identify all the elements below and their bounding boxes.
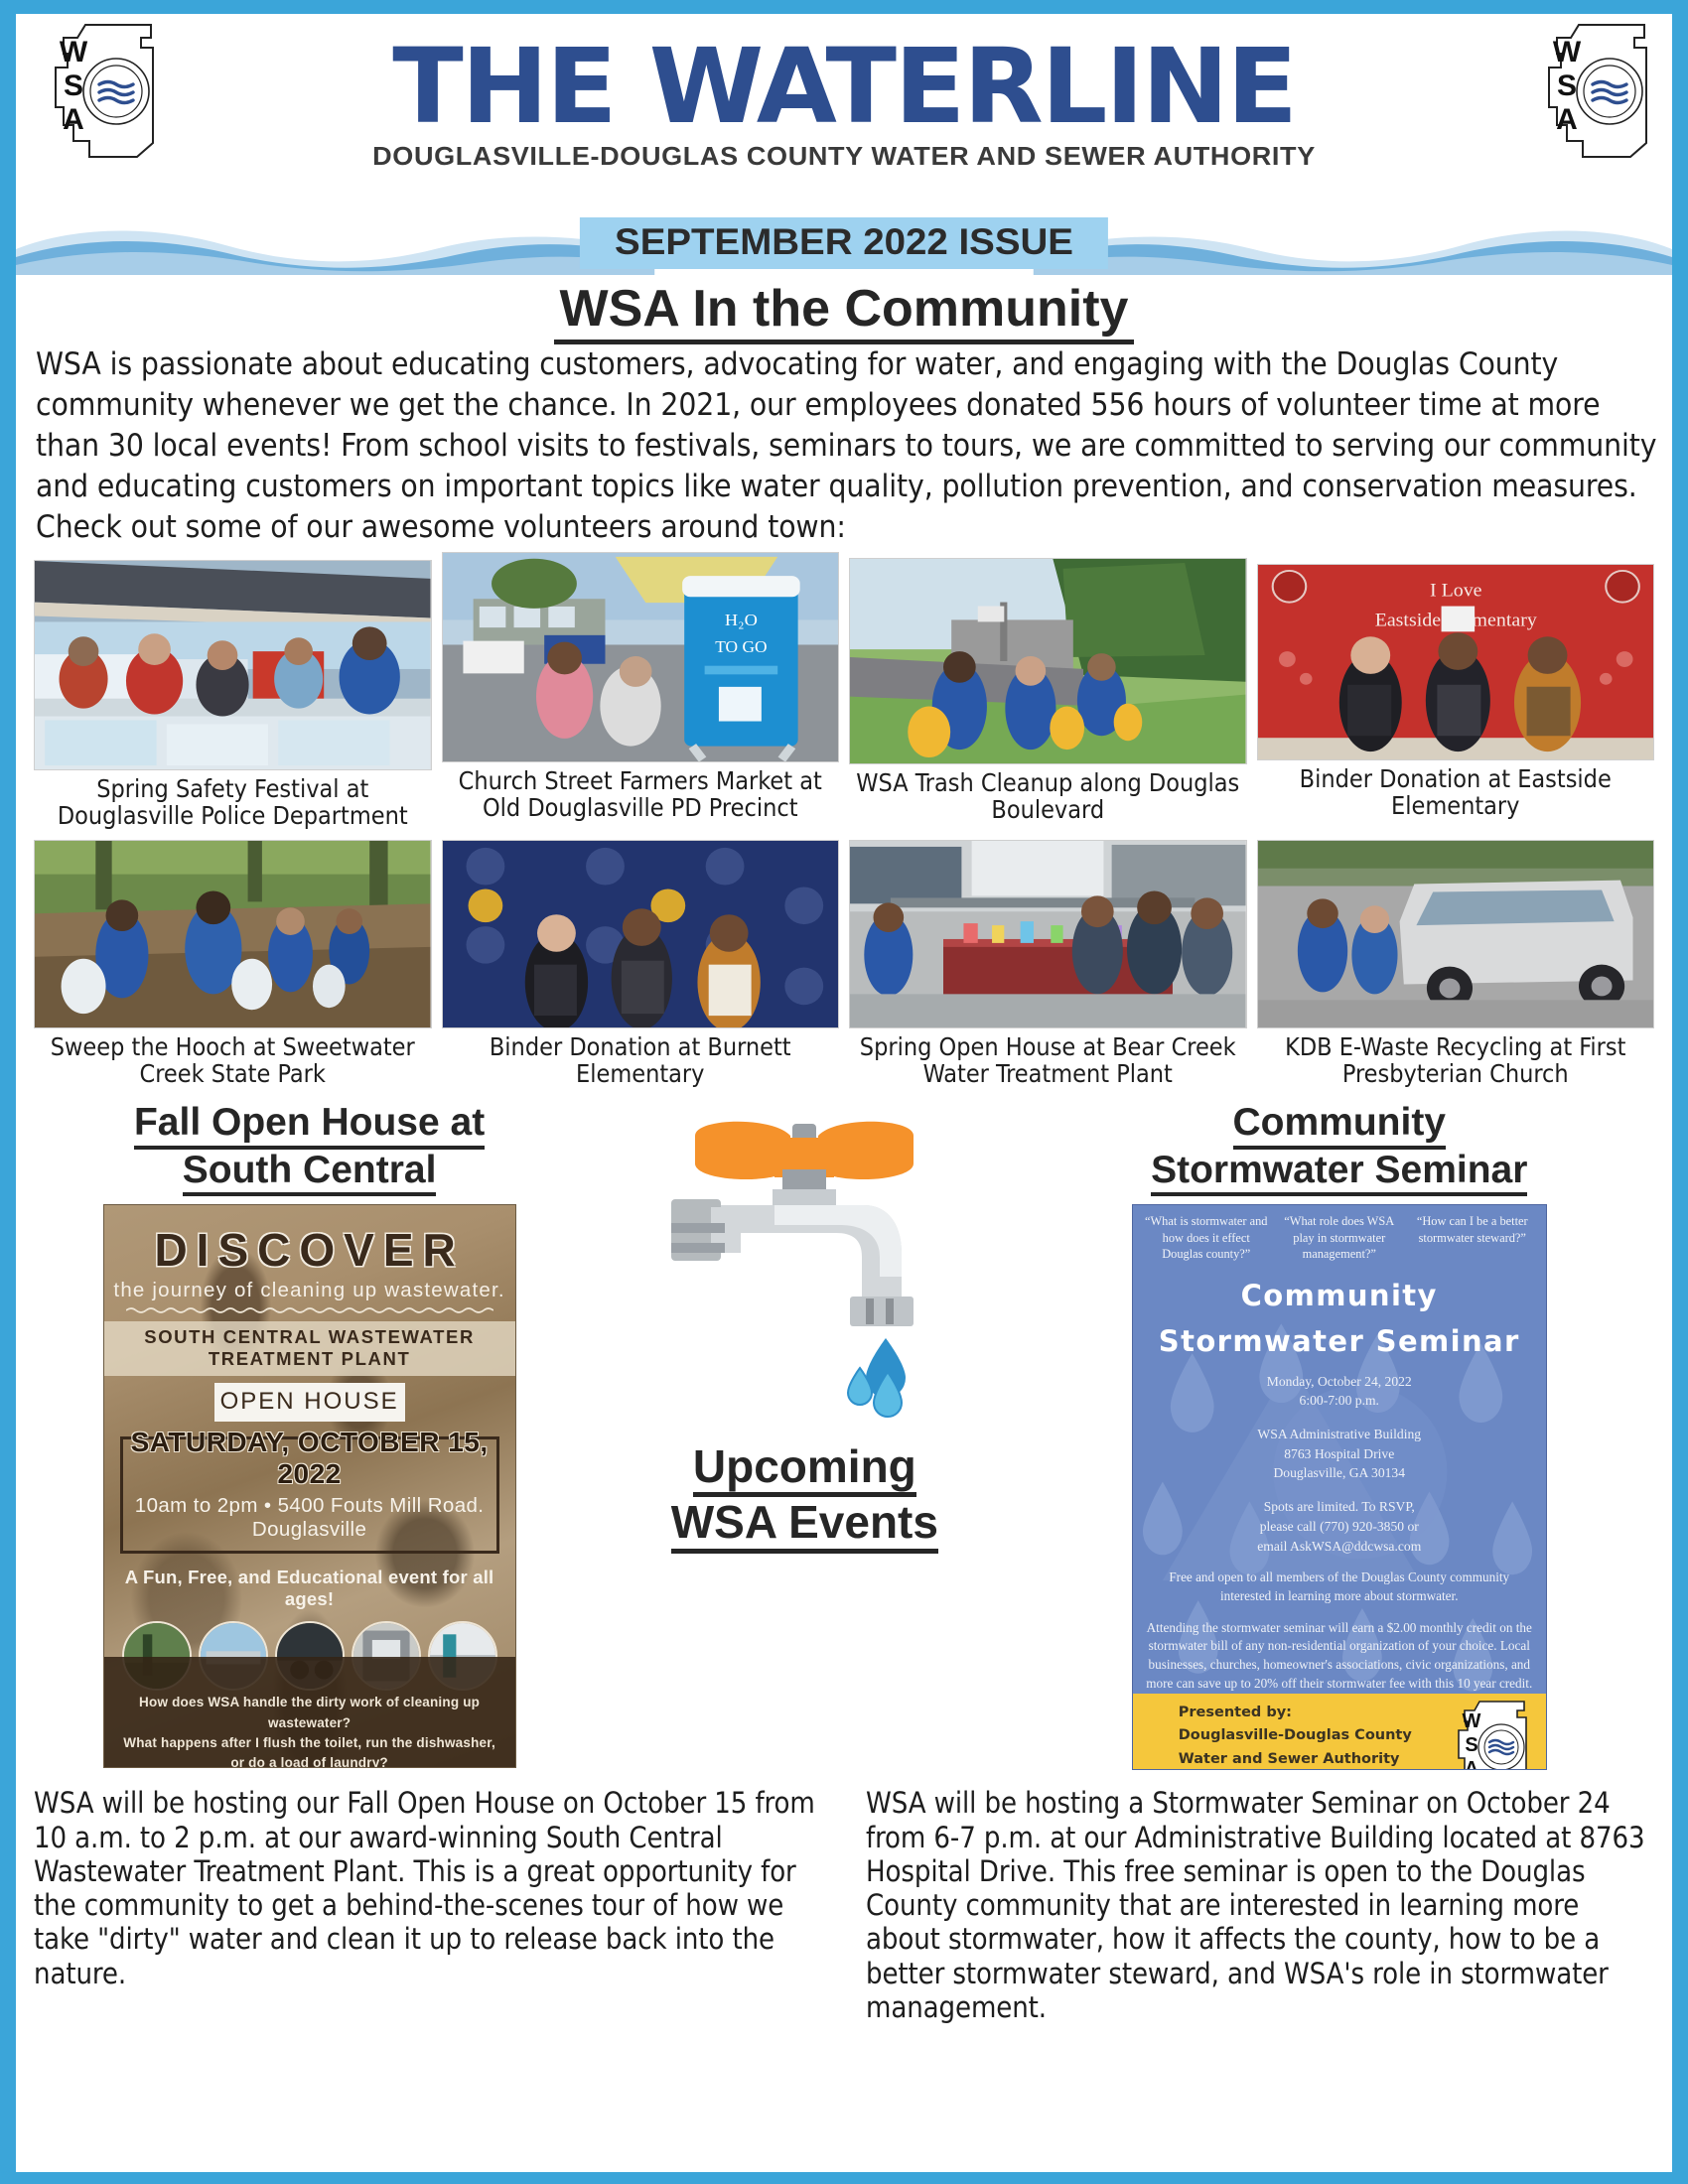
poster-tagline: the journey of cleaning up wastewater. (104, 1279, 515, 1302)
stormwater-venue-line3: Douglasville, GA 30134 (1145, 1463, 1534, 1483)
photo-spring-safety-festival (34, 560, 432, 770)
photo-caption: KDB E-Waste Recycling at First Presbyter… (1257, 1033, 1655, 1088)
stormwater-venue-line2: 8763 Hospital Drive (1145, 1444, 1534, 1464)
fall-open-house-description: WSA will be hosting our Fall Open House … (34, 1786, 822, 2024)
stormwater-question-2: “What role does WSA play in stormwater m… (1276, 1213, 1403, 1262)
stormwater-heading-line2: Stormwater Seminar (1151, 1150, 1527, 1197)
photo-caption: Spring Safety Festival at Douglasville P… (34, 775, 432, 830)
squiggle-divider-icon (126, 1305, 493, 1314)
svg-text:A: A (1465, 1758, 1478, 1771)
photo-cell: H₂O TO GO Church Street Farmers Market a… (442, 560, 840, 822)
poster-question-2: What happens after I flush the toilet, r… (118, 1733, 501, 1769)
community-heading: WSA In the Community (554, 280, 1135, 344)
stormwater-rsvp: Spots are limited. To RSVP, please call … (1133, 1497, 1546, 1556)
photo-caption: Sweep the Hooch at Sweetwater Creek Stat… (34, 1033, 432, 1088)
photo-church-street-farmers-market: H₂O TO GO (442, 552, 840, 762)
poster-time-place: 10am to 2pm • 5400 Fouts Mill Road. Doug… (127, 1494, 492, 1542)
svg-text:H₂O: H₂O (724, 610, 757, 628)
fall-open-house-column: Fall Open House at South Central DISCOVE… (34, 1102, 585, 1769)
photo-kdb-ewaste-recycling (1257, 840, 1655, 1028)
stormwater-venue-line1: WSA Administrative Building (1145, 1425, 1534, 1444)
stormwater-seminar-description: WSA will be hosting a Stormwater Seminar… (866, 1786, 1654, 2024)
discover-poster: DISCOVER the journey of cleaning up wast… (103, 1204, 516, 1768)
stormwater-date: Monday, October 24, 2022 (1145, 1372, 1534, 1392)
newsletter-sheet: W S A W S A THE WAT (16, 14, 1672, 2172)
svg-text:TO GO: TO GO (715, 637, 767, 655)
stormwater-questions-row: “What is stormwater and how does it effe… (1133, 1205, 1546, 1262)
stormwater-rsvp-line3: email AskWSA@ddcwsa.com (1145, 1537, 1534, 1557)
fall-open-house-heading-line1: Fall Open House at (134, 1102, 485, 1150)
svg-text:W: W (1462, 1710, 1480, 1732)
upcoming-heading-line2: WSA Events (671, 1497, 938, 1554)
upcoming-events-section: Fall Open House at South Central DISCOVE… (16, 1102, 1672, 1771)
stormwater-question-3: “How can I be a better stormwater stewar… (1409, 1213, 1536, 1262)
upcoming-heading-line1: Upcoming (693, 1441, 916, 1498)
photo-spring-open-house-bear-creek (849, 840, 1247, 1028)
issue-badge: SEPTEMBER 2022 ISSUE (580, 217, 1108, 269)
newsletter-title: THE WATERLINE (16, 18, 1672, 139)
upcoming-events-column: Upcoming WSA Events (593, 1102, 1016, 1554)
faucet-illustration (655, 1108, 953, 1426)
photo-cell: KDB E-Waste Recycling at First Presbyter… (1257, 840, 1655, 1088)
photo-cell: Spring Safety Festival at Douglasville P… (34, 560, 432, 830)
poster-open-house-label: OPEN HOUSE (214, 1383, 405, 1422)
photo-cell: Binder Donation at Burnett Elementary (442, 840, 840, 1088)
photo-caption: WSA Trash Cleanup along Douglas Boulevar… (849, 769, 1247, 824)
stormwater-datetime: Monday, October 24, 2022 6:00-7:00 p.m. (1133, 1372, 1546, 1411)
issue-label: SEPTEMBER 2022 ISSUE (615, 221, 1073, 263)
poster-date: SATURDAY, OCTOBER 15, 2022 (127, 1427, 492, 1490)
svg-text:S: S (1465, 1734, 1477, 1756)
page-title: WSA In the Community (16, 279, 1672, 339)
newsletter-page: W S A W S A THE WAT (0, 0, 1688, 2184)
stormwater-poster-footer: Presented by: Douglasville-Douglas Count… (1133, 1694, 1546, 1771)
poster-discover-title: DISCOVER (104, 1223, 515, 1277)
poster-questions-band: How does WSA handle the dirty work of cl… (104, 1657, 515, 1768)
photo-caption: Binder Donation at Burnett Elementary (442, 1033, 840, 1088)
fall-open-house-heading-line2: South Central (183, 1150, 437, 1197)
poster-date-box: SATURDAY, OCTOBER 15, 2022 10am to 2pm •… (120, 1436, 499, 1554)
photo-cell: Sweep the Hooch at Sweetwater Creek Stat… (34, 840, 432, 1088)
authority-subtitle: DOUGLASVILLE-DOUGLAS COUNTY WATER AND SE… (16, 143, 1672, 172)
photo-row-2: Sweep the Hooch at Sweetwater Creek Stat… (16, 840, 1672, 1088)
stormwater-heading-line1: Community (1233, 1102, 1447, 1150)
stormwater-rsvp-line1: Spots are limited. To RSVP, (1145, 1497, 1534, 1517)
bottom-descriptions: WSA will be hosting our Fall Open House … (16, 1778, 1672, 2024)
faucet-icon (655, 1108, 953, 1426)
photo-caption: Spring Open House at Bear Creek Water Tr… (849, 1033, 1247, 1088)
photo-sweep-the-hooch (34, 840, 432, 1028)
photo-binder-donation-burnett (442, 840, 840, 1028)
stormwater-venue: WSA Administrative Building 8763 Hospita… (1133, 1425, 1546, 1483)
stormwater-poster-title-line2: Stormwater Seminar (1133, 1324, 1546, 1358)
photo-wsa-trash-cleanup (849, 558, 1247, 764)
photo-cell: Spring Open House at Bear Creek Water Tr… (849, 840, 1247, 1088)
stormwater-seminar-heading: Community Stormwater Seminar (1151, 1102, 1527, 1197)
poster-plant-band: SOUTH CENTRAL WASTEWATER TREATMENT PLANT (104, 1321, 515, 1376)
stormwater-poster: “What is stormwater and how does it effe… (1132, 1204, 1547, 1770)
masthead: W S A W S A THE WAT (16, 14, 1672, 217)
photo-row-1: Spring Safety Festival at Douglasville P… (16, 560, 1672, 830)
stormwater-seminar-column: Community Stormwater Seminar (1025, 1102, 1655, 1771)
community-intro-paragraph: WSA is passionate about educating custom… (16, 344, 1672, 548)
stormwater-poster-title-line1: Community (1133, 1279, 1546, 1312)
upcoming-events-heading: Upcoming WSA Events (671, 1441, 938, 1554)
fall-open-house-heading: Fall Open House at South Central (134, 1102, 485, 1197)
photo-cell: I Love Eastside Elementary (1257, 560, 1655, 820)
stormwater-rsvp-line2: please call (770) 920-3850 or (1145, 1517, 1534, 1537)
stormwater-credit-note: Attending the stormwater seminar will ea… (1133, 1619, 1546, 1694)
photo-caption: Church Street Farmers Market at Old Doug… (442, 767, 840, 822)
wsa-logo-stormwater-icon: W S A (1445, 1700, 1532, 1771)
poster-question-1: How does WSA handle the dirty work of cl… (118, 1693, 501, 1733)
poster-fun-note: A Fun, Free, and Educational event for a… (104, 1567, 515, 1610)
stormwater-free-note: Free and open to all members of the Doug… (1133, 1569, 1546, 1605)
stormwater-time: 6:00-7:00 p.m. (1145, 1391, 1534, 1411)
photo-binder-donation-eastside: I Love Eastside Elementary (1257, 564, 1655, 760)
photo-caption: Binder Donation at Eastside Elementary (1257, 765, 1655, 820)
stormwater-question-1: “What is stormwater and how does it effe… (1143, 1213, 1270, 1262)
wave-divider: SEPTEMBER 2022 ISSUE (16, 219, 1672, 275)
svg-text:I Love: I Love (1429, 581, 1481, 601)
photo-cell: WSA Trash Cleanup along Douglas Boulevar… (849, 560, 1247, 824)
